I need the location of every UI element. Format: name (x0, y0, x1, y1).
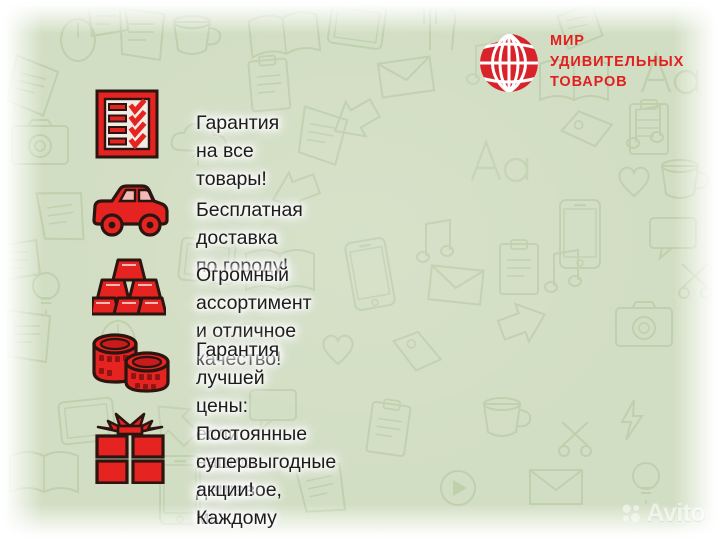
checklist-icon (94, 88, 160, 160)
avito-label: Avito (646, 501, 705, 526)
brand-name: МИР УДИВИТЕЛЬНЫХ ТОВАРОВ (550, 31, 684, 93)
brand-logo: МИР УДИВИТЕЛЬНЫХ ТОВАРОВ (477, 30, 684, 94)
red-globe-icon (477, 30, 541, 94)
avito-dots-icon (622, 504, 641, 523)
brand-line-3: ТОВАРОВ (550, 72, 684, 93)
avito-watermark: Avito (622, 501, 705, 526)
car-icon (90, 182, 170, 240)
feature-text-promotions: Постоянные супервыгодные акции! Каждому … (196, 420, 336, 540)
coins-icon (90, 328, 172, 394)
brand-line-1: МИР (550, 31, 684, 52)
promo-poster: МИР УДИВИТЕЛЬНЫХ ТОВАРОВ (0, 0, 720, 540)
gold-bars-icon (92, 256, 166, 318)
feature-text-warranty: Гарантия на все товары! (196, 109, 279, 193)
brand-line-2: УДИВИТЕЛЬНЫХ (550, 52, 684, 73)
gift-box-icon (94, 412, 166, 484)
